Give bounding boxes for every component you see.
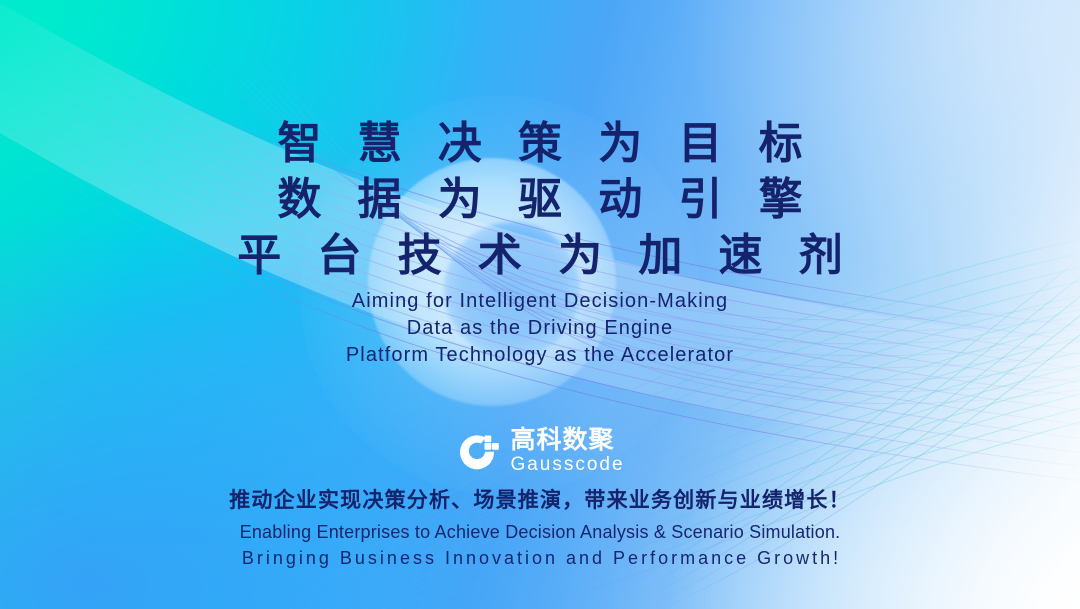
headline: 智 慧 决 策 为 目 标 数 据 为 驱 动 引 擎 平 台 技 术 为 加 … <box>0 116 1080 284</box>
subheadline: Aiming for Intelligent Decision-Making D… <box>0 288 1080 369</box>
brand-name-en: Gausscode <box>510 455 624 474</box>
headline-line-1: 智 慧 决 策 为 目 标 <box>0 116 1080 172</box>
tagline-chinese: 推动企业实现决策分析、场景推演，带来业务创新与业绩增长！ <box>0 484 1080 514</box>
gausscode-ring-logo-icon <box>455 429 499 473</box>
headline-line-3: 平 台 技 术 为 加 速 剂 <box>0 228 1080 284</box>
subheadline-line-1: Aiming for Intelligent Decision-Making <box>0 288 1080 315</box>
tagline-english: Enabling Enterprises to Achieve Decision… <box>0 519 1080 571</box>
tagline-english-line-2: Bringing Business Innovation and Perform… <box>0 545 1080 571</box>
poster-content: 智 慧 决 策 为 目 标 数 据 为 驱 动 引 擎 平 台 技 术 为 加 … <box>0 0 1080 609</box>
poster-canvas: 智 慧 决 策 为 目 标 数 据 为 驱 动 引 擎 平 台 技 术 为 加 … <box>0 0 1080 609</box>
brand-logo-wordmark: 高科数聚 Gausscode <box>510 428 624 474</box>
subheadline-line-2: Data as the Driving Engine <box>0 315 1080 342</box>
subheadline-line-3: Platform Technology as the Accelerator <box>0 342 1080 369</box>
brand-logo: 高科数聚 Gausscode <box>0 428 1080 474</box>
headline-line-2: 数 据 为 驱 动 引 擎 <box>0 172 1080 228</box>
tagline-english-line-1: Enabling Enterprises to Achieve Decision… <box>0 519 1080 545</box>
brand-name-cn: 高科数聚 <box>510 428 624 453</box>
